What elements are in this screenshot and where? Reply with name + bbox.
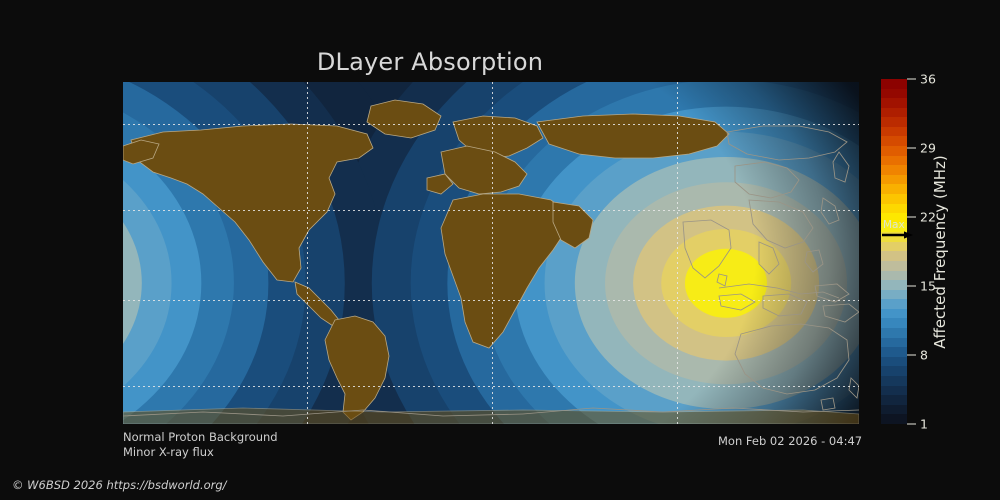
proton-status-text: Normal Proton Background — [123, 430, 278, 444]
colorbar-segment — [881, 338, 907, 348]
colorbar-segment — [881, 290, 907, 300]
colorbar-segment — [881, 261, 907, 271]
colorbar-segment — [881, 204, 907, 214]
colorbar-segment — [881, 386, 907, 396]
colorbar-axis-label-text: Affected Frequency (MHz) — [931, 155, 949, 349]
world-map — [123, 82, 859, 424]
colorbar-segment — [881, 184, 907, 194]
colorbar-segment — [881, 405, 907, 415]
colorbar-tick-line — [907, 355, 916, 356]
colorbar-tick-line — [907, 79, 916, 80]
timestamp-text: Mon Feb 02 2026 - 04:47 — [718, 434, 862, 448]
colorbar-segment — [881, 117, 907, 127]
colorbar-segment — [881, 79, 907, 89]
continents-layer — [123, 82, 859, 424]
page-title: DLayer Absorption — [0, 48, 860, 76]
colorbar-max-marker: Max — [881, 222, 941, 248]
colorbar-segment — [881, 347, 907, 357]
xray-status-text: Minor X-ray flux — [123, 445, 214, 459]
colorbar-tick-line — [907, 217, 916, 218]
colorbar-segment — [881, 146, 907, 156]
colorbar-segment — [881, 414, 907, 424]
dlayer-absorption-plot: DLayer Absorption — [0, 0, 1000, 500]
colorbar-segment — [881, 328, 907, 338]
colorbar — [881, 79, 907, 424]
colorbar-segment — [881, 280, 907, 290]
colorbar-segment — [881, 194, 907, 204]
colorbar-segment — [881, 366, 907, 376]
map-clip — [123, 82, 859, 424]
colorbar-segment — [881, 127, 907, 137]
colorbar-segment — [881, 318, 907, 328]
colorbar-tick-line — [907, 286, 916, 287]
colorbar-segment — [881, 271, 907, 281]
colorbar-segment — [881, 89, 907, 99]
colorbar-tick-label: 1 — [920, 417, 928, 432]
copyright-text: © W6BSD 2026 https://bsdworld.org/ — [12, 478, 227, 492]
colorbar-segment — [881, 251, 907, 261]
colorbar-max-label: Max — [883, 219, 905, 231]
colorbar-segment — [881, 98, 907, 108]
colorbar-segment — [881, 357, 907, 367]
colorbar-tick-label: 8 — [920, 348, 928, 363]
colorbar-segment — [881, 156, 907, 166]
colorbar-segment — [881, 299, 907, 309]
colorbar-segment — [881, 395, 907, 405]
colorbar-segment — [881, 136, 907, 146]
arrow-right-icon — [882, 231, 916, 239]
colorbar-segment — [881, 175, 907, 185]
colorbar-segment — [881, 376, 907, 386]
colorbar-tick: 1 — [907, 417, 928, 432]
colorbar-tick-line — [907, 148, 916, 149]
colorbar-tick: 8 — [907, 348, 928, 363]
colorbar-tick-line — [907, 424, 916, 425]
colorbar-segment — [881, 165, 907, 175]
colorbar-axis-label: Affected Frequency (MHz) — [928, 79, 952, 424]
colorbar-segment — [881, 108, 907, 118]
colorbar-segment — [881, 309, 907, 319]
